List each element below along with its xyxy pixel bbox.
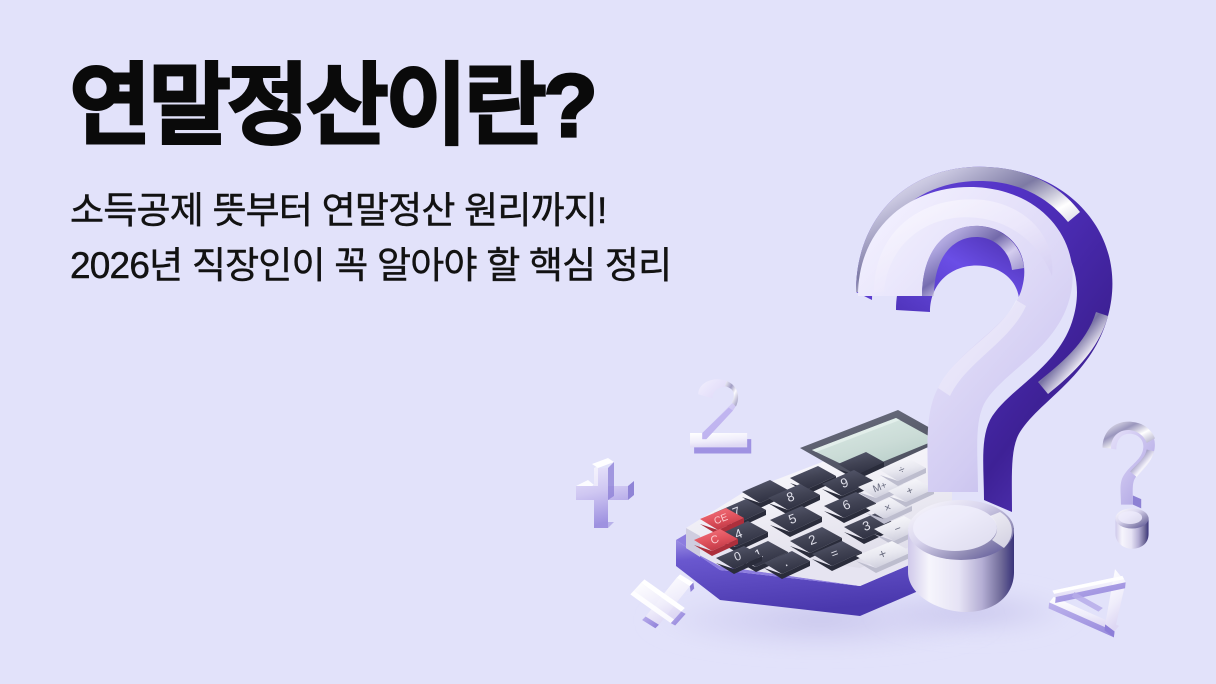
page-title: 연말정산이란? [70, 60, 671, 152]
subtitle-block: 소득공제 뜻부터 연말정산 원리까지! 2026년 직장인이 꼭 알아야 할 핵… [70, 184, 671, 294]
promo-banner: 7 8 9 4 5 6 [0, 0, 1216, 684]
small-question-dot [1115, 508, 1148, 548]
small-question-mark-icon [1103, 422, 1155, 549]
digit-two-icon [690, 379, 751, 453]
question-mark-dot [908, 500, 1014, 612]
plus-sign-icon [576, 458, 634, 528]
subtitle-line-2: 2026년 직장인이 꼭 알아야 할 핵심 정리 [70, 239, 671, 294]
text-block: 연말정산이란? 소득공제 뜻부터 연말정산 원리까지! 2026년 직장인이 꼭… [70, 60, 671, 294]
subtitle-line-1: 소득공제 뜻부터 연말정산 원리까지! [70, 184, 671, 239]
